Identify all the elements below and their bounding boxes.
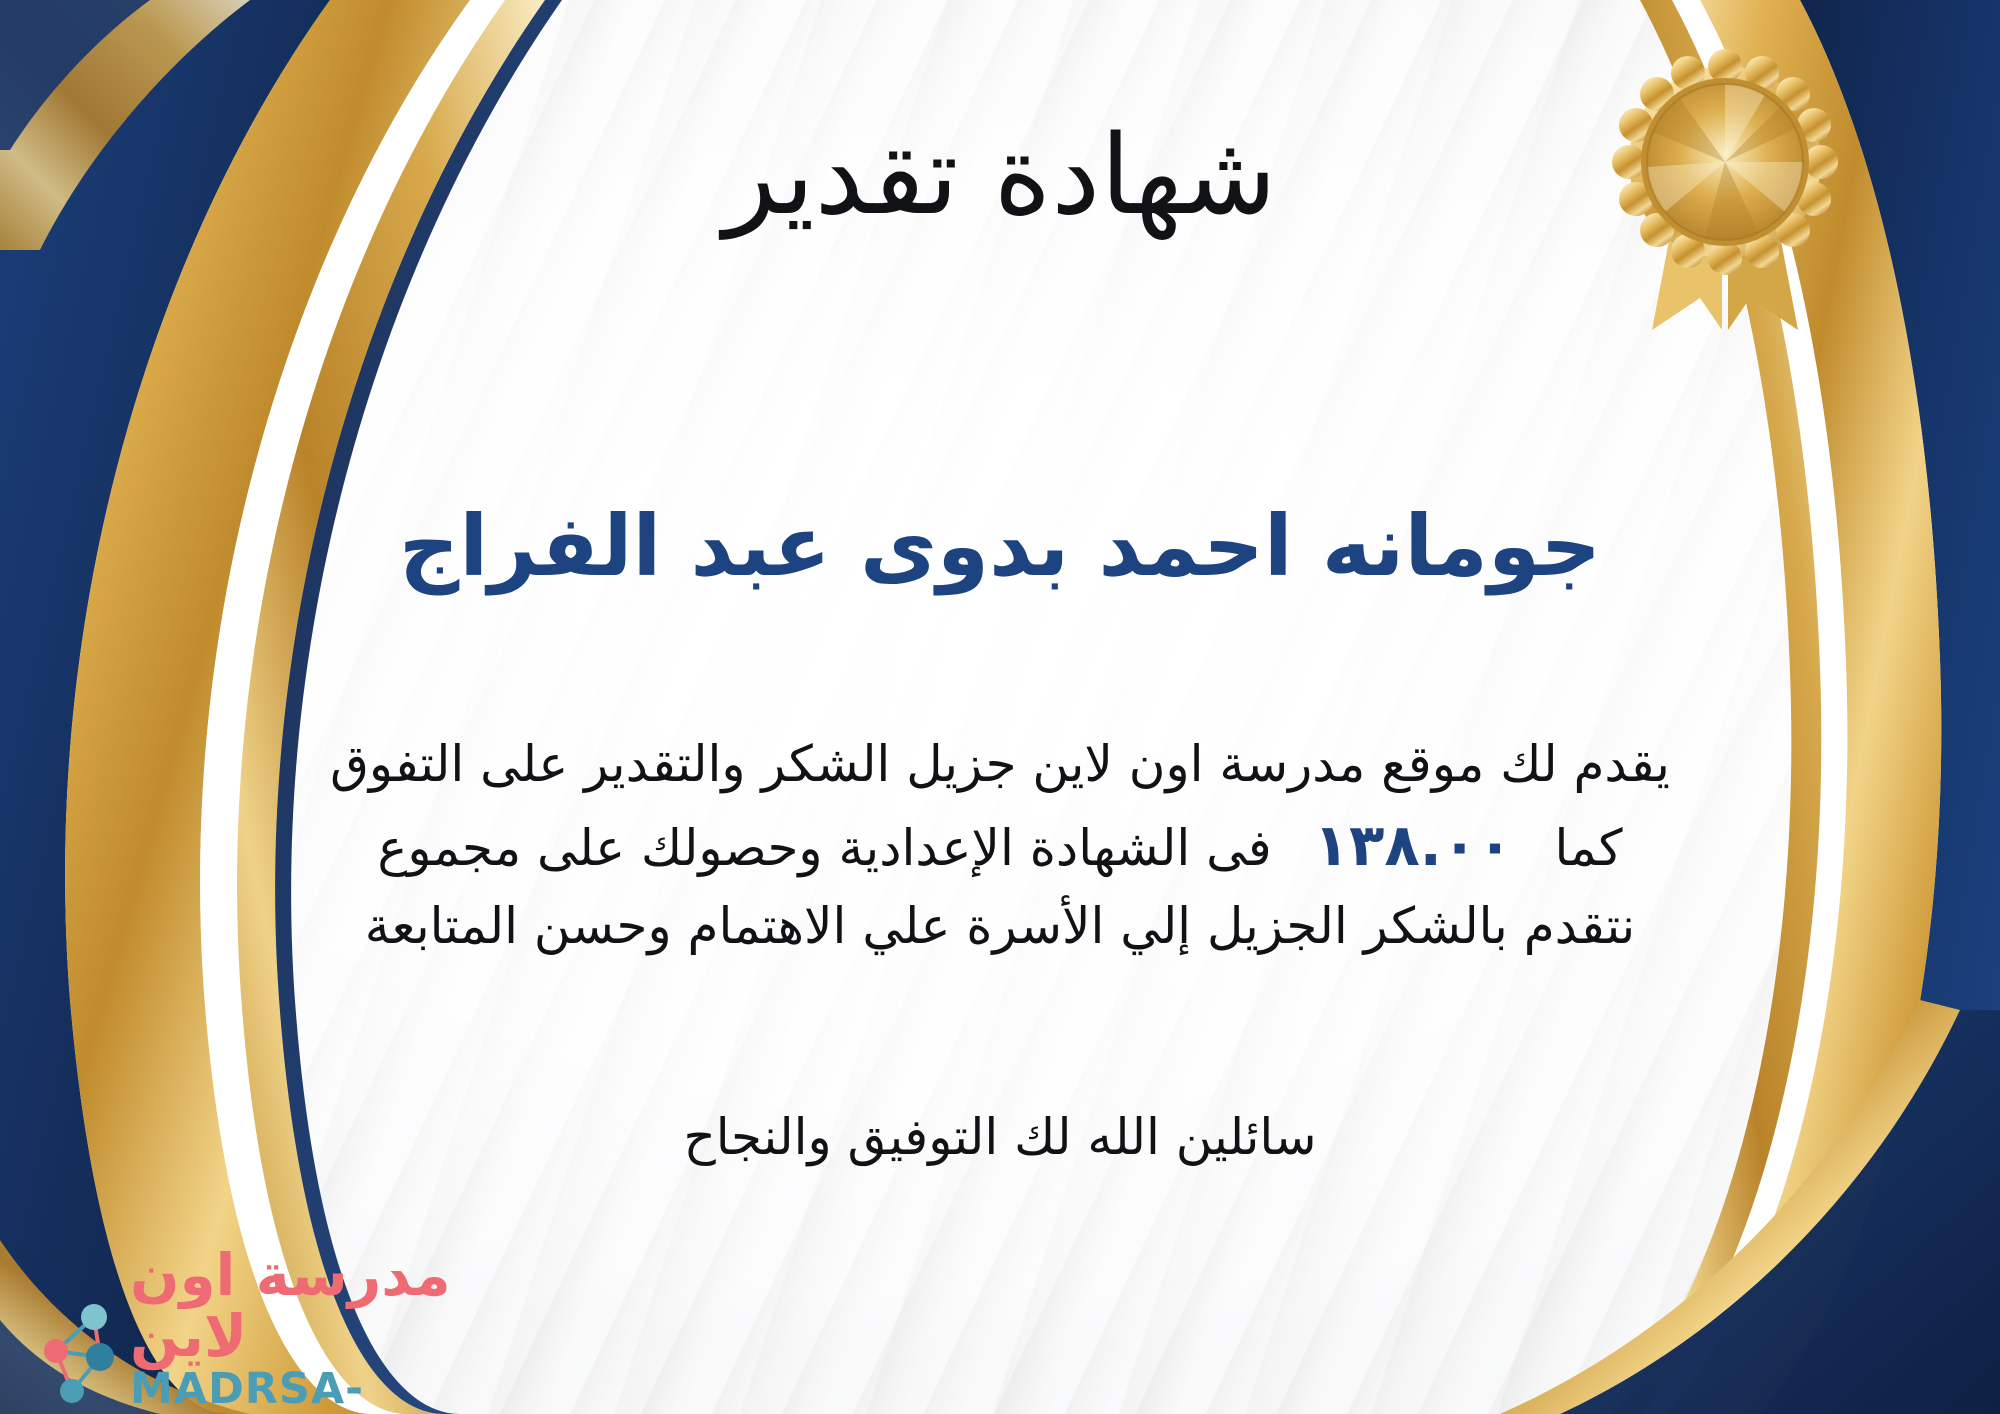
certificate-page: شهادة تقدير جومانه احمد بدوى عبد الفراج … bbox=[0, 0, 2000, 1414]
closing-wish-line: سائلين الله لك التوفيق والنجاح bbox=[0, 1108, 2000, 1166]
site-logo[interactable]: مدرسة اون لاين MADRSA-ONLINE.COM bbox=[26, 1245, 496, 1385]
body-line-2: كما ١٣٨.٠٠ فى الشهادة الإعدادية وحصولك ع… bbox=[60, 802, 1940, 889]
logo-text-block: مدرسة اون لاين MADRSA-ONLINE.COM bbox=[130, 1245, 496, 1414]
body-line-3: نتقدم بالشكر الجزيل إلي الأسرة علي الاهت… bbox=[60, 889, 1940, 964]
certificate-content: شهادة تقدير جومانه احمد بدوى عبد الفراج … bbox=[0, 0, 2000, 1414]
logo-domain-name: MADRSA-ONLINE.COM bbox=[130, 1367, 496, 1414]
body-line-1: يقدم لك موقع مدرسة اون لاين جزيل الشكر و… bbox=[60, 727, 1940, 802]
page-title: شهادة تقدير bbox=[0, 118, 2000, 234]
network-nodes-icon bbox=[26, 1295, 122, 1407]
body-line-2-suffix: كما bbox=[1555, 819, 1623, 877]
grade-total-value: ١٣٨.٠٠ bbox=[1288, 811, 1539, 879]
body-line-2-prefix: فى الشهادة الإعدادية وحصولك على مجموع bbox=[377, 819, 1271, 877]
recipient-name: جومانه احمد بدوى عبد الفراج bbox=[0, 500, 2000, 592]
logo-arabic-name: مدرسة اون لاين bbox=[130, 1245, 496, 1367]
appreciation-body: يقدم لك موقع مدرسة اون لاين جزيل الشكر و… bbox=[60, 727, 1940, 964]
logo-row: مدرسة اون لاين MADRSA-ONLINE.COM bbox=[26, 1245, 496, 1414]
